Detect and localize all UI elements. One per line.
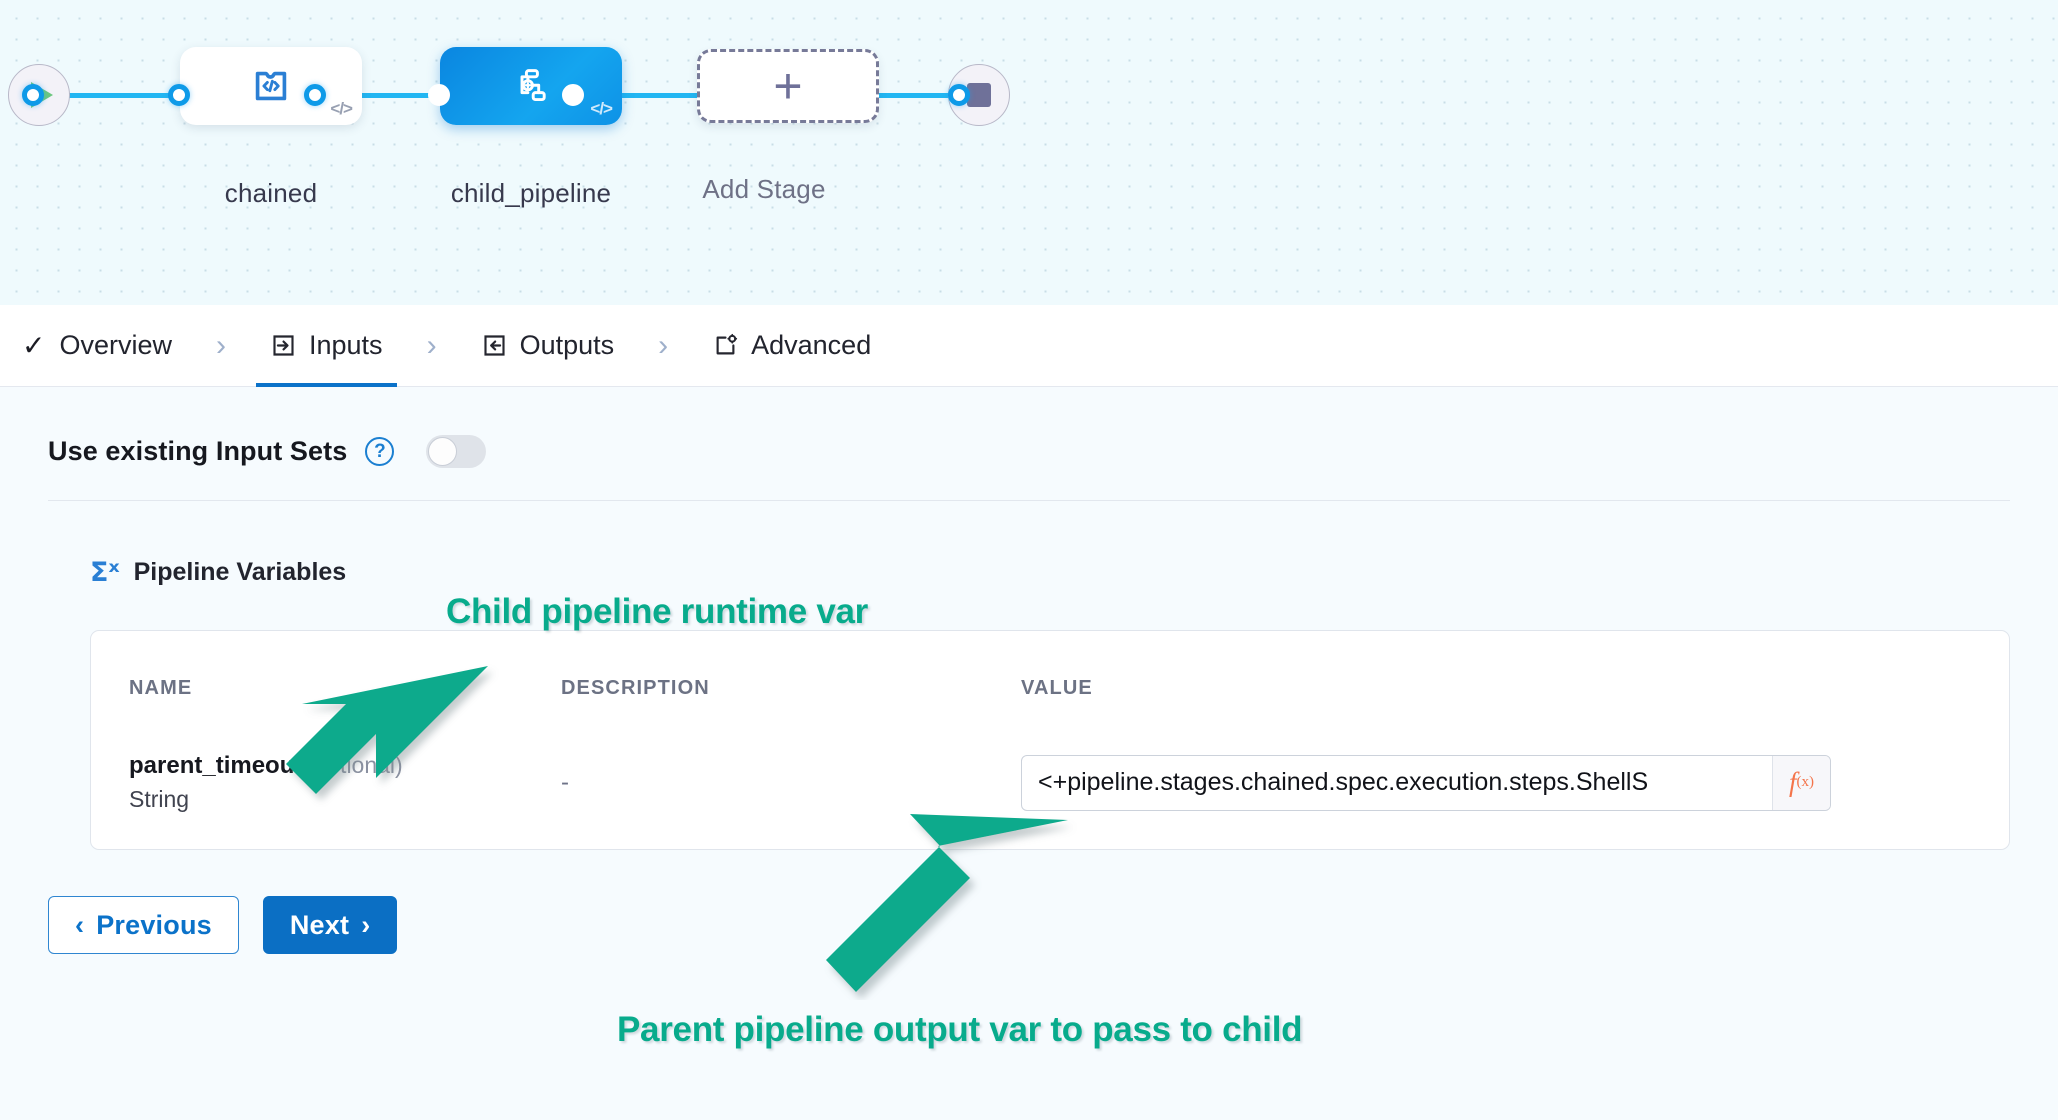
variable-optional-tag: (optional): [307, 752, 403, 778]
tab-separator-3: ›: [628, 329, 698, 363]
pipeline-stage-icon: [509, 64, 553, 108]
plus-icon: +: [773, 66, 802, 106]
pipeline-variables-header: Σˣ Pipeline Variables: [0, 501, 2058, 588]
tab-separator-1: ›: [186, 329, 256, 363]
use-existing-input-sets-toggle[interactable]: [426, 435, 486, 468]
wizard-footer-buttons: ‹ Previous Next ›: [0, 850, 2058, 954]
tab-label: Inputs: [309, 330, 383, 361]
add-stage-node[interactable]: +: [697, 49, 879, 123]
stage-code-badge: </>: [330, 99, 352, 119]
custom-stage-code-icon: [248, 63, 294, 109]
tab-label: Advanced: [751, 330, 871, 361]
step-tabbar[interactable]: ✓ Overview › Inputs › Outputs ›: [0, 305, 2058, 387]
pipeline-variables-title: Pipeline Variables: [134, 558, 347, 587]
table-row: parent_timeout (optional) String - f(x): [91, 700, 2009, 813]
previous-button[interactable]: ‹ Previous: [48, 896, 239, 954]
column-header-value: VALUE: [1021, 665, 2009, 700]
annotation-parent-output-var: Parent pipeline output var to pass to ch…: [617, 1010, 1302, 1050]
table-header-row: NAME DESCRIPTION VALUE: [91, 665, 2009, 700]
arrow-out-of-box-icon: [481, 332, 508, 359]
variable-value-cell: f(x): [1021, 700, 2009, 813]
variable-value-input[interactable]: [1022, 756, 1772, 810]
connector-dot-chained-out: [304, 84, 326, 106]
annotation-child-runtime-var: Child pipeline runtime var: [446, 592, 868, 632]
chevron-left-icon: ‹: [75, 910, 84, 941]
stage-node-child-pipeline[interactable]: </>: [440, 47, 622, 125]
variable-type: String: [129, 786, 561, 813]
tab-separator-2: ›: [397, 329, 467, 363]
next-button-label: Next: [290, 910, 349, 941]
previous-button-label: Previous: [96, 910, 212, 941]
stage-label-child-pipeline: child_pipeline: [401, 178, 661, 209]
use-existing-input-sets-label: Use existing Input Sets: [48, 436, 347, 467]
stage-label-chained: chained: [141, 178, 401, 209]
column-header-description: DESCRIPTION: [561, 665, 1021, 700]
fx-sub: (x): [1797, 774, 1815, 791]
tab-outputs[interactable]: Outputs: [467, 305, 629, 387]
variable-name-cell: parent_timeout (optional) String: [91, 700, 561, 813]
expression-fx-button[interactable]: f(x): [1772, 756, 1830, 810]
add-stage-label: Add Stage: [634, 174, 894, 205]
tab-advanced[interactable]: Advanced: [698, 305, 885, 387]
tab-inputs[interactable]: Inputs: [256, 305, 397, 387]
variable-description: -: [561, 769, 569, 796]
column-header-name: NAME: [91, 665, 561, 700]
tab-label: Overview: [59, 330, 172, 361]
connector-dot-child-in: [428, 84, 450, 106]
question-mark-icon[interactable]: ?: [365, 437, 394, 466]
connector-dot-chained-in: [168, 84, 190, 106]
fx-label: f: [1789, 767, 1797, 798]
connector-dot-start: [22, 84, 44, 106]
variable-value-field-wrapper[interactable]: f(x): [1021, 755, 1831, 811]
variable-name: parent_timeout: [129, 752, 302, 779]
pipeline-canvas[interactable]: </> chained </> child_pipeline + Add Sta…: [0, 0, 2058, 305]
pipeline-variables-card: NAME DESCRIPTION VALUE parent_timeout (o…: [90, 630, 2010, 850]
stage-code-badge: </>: [590, 99, 612, 119]
check-icon: ✓: [22, 329, 45, 362]
variable-description-cell: -: [561, 700, 1021, 813]
stop-icon: [967, 83, 991, 107]
arrow-into-box-icon: [270, 332, 297, 359]
connector-dot-end: [948, 84, 970, 106]
sigma-variable-icon: Σˣ: [90, 557, 120, 588]
chevron-right-icon: ›: [361, 910, 370, 941]
pipeline-variables-table: NAME DESCRIPTION VALUE parent_timeout (o…: [91, 665, 2009, 813]
stage-node-chained[interactable]: </>: [180, 47, 362, 125]
tab-label: Outputs: [520, 330, 615, 361]
use-existing-input-sets-row: Use existing Input Sets ?: [0, 387, 2058, 468]
next-button[interactable]: Next ›: [263, 896, 398, 954]
connector-dot-child-out: [562, 84, 584, 106]
toggle-knob: [428, 437, 457, 466]
box-gear-icon: [712, 332, 739, 359]
tab-overview[interactable]: ✓ Overview: [8, 305, 186, 387]
